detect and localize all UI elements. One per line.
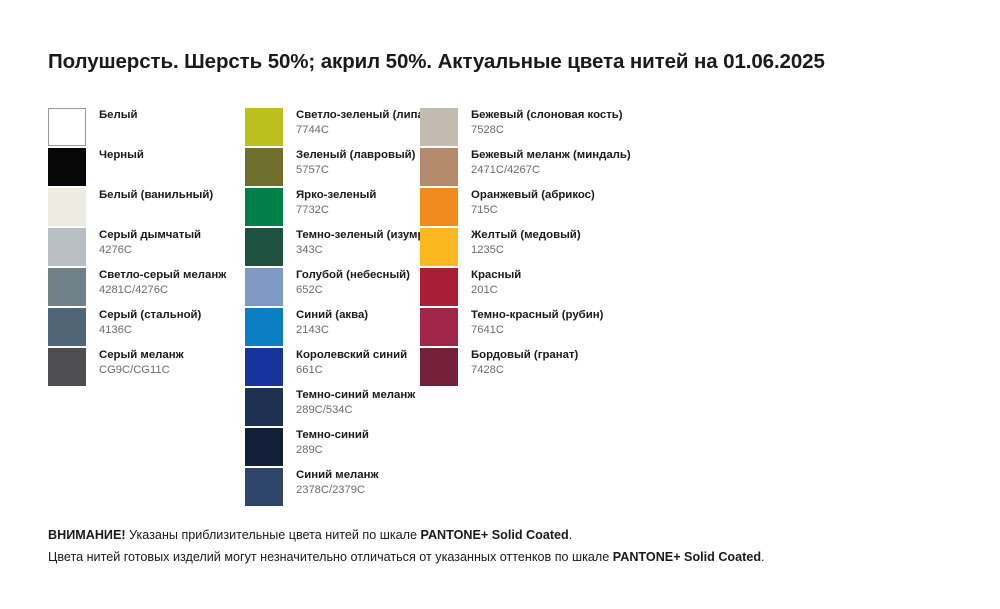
- color-name: Темно-зеленый (изумруд): [296, 229, 420, 242]
- color-chip[interactable]: [245, 428, 283, 466]
- color-chip[interactable]: [48, 348, 86, 386]
- pantone-code: 4281C/4276C: [99, 284, 226, 297]
- pantone-code: CG9C/CG11C: [99, 364, 184, 377]
- color-swatch-row[interactable]: Бежевый (слоновая кость)7528C: [420, 108, 720, 148]
- color-swatch-row[interactable]: Серый дымчатый4276C: [48, 228, 243, 268]
- pantone-code: 2471C/4267C: [471, 164, 631, 177]
- color-chip[interactable]: [420, 228, 458, 266]
- color-chip[interactable]: [245, 268, 283, 306]
- color-chip-text: Белый: [99, 108, 138, 122]
- color-name: Темно-синий меланж: [296, 389, 415, 402]
- color-name: Синий (аква): [296, 309, 368, 322]
- color-chip[interactable]: [420, 108, 458, 146]
- color-name: Серый меланж: [99, 349, 184, 362]
- color-name: Ярко-зеленый: [296, 189, 376, 202]
- color-chip-text: Оранжевый (абрикос)715C: [471, 188, 595, 217]
- color-swatch-row[interactable]: Темно-зеленый (изумруд)343C: [245, 228, 420, 268]
- pantone-code: 7641C: [471, 324, 603, 337]
- color-swatch-row[interactable]: Ярко-зеленый7732C: [245, 188, 420, 228]
- color-chip[interactable]: [420, 148, 458, 186]
- color-chip-text: Темно-синий289C: [296, 428, 369, 457]
- color-swatch-row[interactable]: Серый (стальной)4136C: [48, 308, 243, 348]
- color-name: Голубой (небесный): [296, 269, 410, 282]
- color-swatch-row[interactable]: Синий меланж2378C/2379C: [245, 468, 420, 508]
- color-chip-text: Бежевый меланж (миндаль)2471C/4267C: [471, 148, 631, 177]
- color-chip-text: Желтый (медовый)1235C: [471, 228, 581, 257]
- attention-period: .: [569, 528, 573, 542]
- pantone-code: 1235C: [471, 244, 581, 257]
- pantone-code: 4276C: [99, 244, 201, 257]
- color-chip-text: Темно-зеленый (изумруд)343C: [296, 228, 420, 257]
- pantone-code: 289C/534C: [296, 404, 415, 417]
- color-swatch-row[interactable]: Голубой (небесный)652C: [245, 268, 420, 308]
- color-chip[interactable]: [420, 348, 458, 386]
- color-chip-text: Серый дымчатый4276C: [99, 228, 201, 257]
- color-chip[interactable]: [48, 308, 86, 346]
- color-chip[interactable]: [48, 108, 86, 146]
- color-chip-text: Красный201C: [471, 268, 521, 297]
- color-chip-text: Серый меланжCG9C/CG11C: [99, 348, 184, 377]
- pantone-code: 5757C: [296, 164, 415, 177]
- color-chip-text: Зеленый (лавровый)5757C: [296, 148, 415, 177]
- column-warms: Бежевый (слоновая кость)7528CБежевый мел…: [420, 108, 720, 388]
- pantone-code: 7528C: [471, 124, 623, 137]
- disclaimer-period: .: [761, 550, 765, 564]
- color-swatch-row[interactable]: Черный: [48, 148, 243, 188]
- pantone-code: 7732C: [296, 204, 376, 217]
- color-chip[interactable]: [420, 268, 458, 306]
- color-chip[interactable]: [420, 308, 458, 346]
- color-chip[interactable]: [245, 188, 283, 226]
- color-chip[interactable]: [245, 228, 283, 266]
- color-chip-text: Серый (стальной)4136C: [99, 308, 201, 337]
- color-chip[interactable]: [245, 108, 283, 146]
- color-chip[interactable]: [48, 148, 86, 186]
- pantone-code: 661C: [296, 364, 407, 377]
- pantone-code: 2143C: [296, 324, 368, 337]
- color-name: Темно-красный (рубин): [471, 309, 603, 322]
- color-name: Серый дымчатый: [99, 229, 201, 242]
- color-swatch-row[interactable]: Светло-серый меланж4281C/4276C: [48, 268, 243, 308]
- color-chip-text: Голубой (небесный)652C: [296, 268, 410, 297]
- color-chip-text: Темно-красный (рубин)7641C: [471, 308, 603, 337]
- footer-notes: ВНИМАНИЕ! Указаны приблизительные цвета …: [48, 524, 968, 568]
- color-name: Желтый (медовый): [471, 229, 581, 242]
- color-swatch-row[interactable]: Светло-зеленый (липа)7744C: [245, 108, 420, 148]
- pantone-code: 652C: [296, 284, 410, 297]
- color-chip[interactable]: [245, 388, 283, 426]
- color-chip-text: Ярко-зеленый7732C: [296, 188, 376, 217]
- color-chip[interactable]: [48, 268, 86, 306]
- pantone-brand-1: PANTONE+ Solid Coated: [420, 528, 568, 542]
- color-swatch-row[interactable]: Синий (аква)2143C: [245, 308, 420, 348]
- pantone-code: 289C: [296, 444, 369, 457]
- pantone-code: 343C: [296, 244, 420, 257]
- footer-line-disclaimer: Цвета нитей готовых изделий могут незнач…: [48, 546, 968, 568]
- color-name: Оранжевый (абрикос): [471, 189, 595, 202]
- color-swatch-row[interactable]: Оранжевый (абрикос)715C: [420, 188, 720, 228]
- color-chip[interactable]: [245, 148, 283, 186]
- pantone-code: 715C: [471, 204, 595, 217]
- color-swatch-row[interactable]: Бордовый (гранат)7428C: [420, 348, 720, 388]
- color-swatch-row[interactable]: Серый меланжCG9C/CG11C: [48, 348, 243, 388]
- color-chip-text: Королевский синий661C: [296, 348, 407, 377]
- color-name: Красный: [471, 269, 521, 282]
- color-swatch-row[interactable]: Темно-синий289C: [245, 428, 420, 468]
- color-swatch-row[interactable]: Темно-синий меланж289C/534C: [245, 388, 420, 428]
- color-name: Бордовый (гранат): [471, 349, 578, 362]
- color-name: Зеленый (лавровый): [296, 149, 415, 162]
- color-name: Светло-зеленый (липа): [296, 109, 420, 122]
- pantone-code: 7744C: [296, 124, 420, 137]
- color-name: Серый (стальной): [99, 309, 201, 322]
- color-swatch-row[interactable]: Бежевый меланж (миндаль)2471C/4267C: [420, 148, 720, 188]
- color-chip-text: Синий меланж2378C/2379C: [296, 468, 379, 497]
- color-chip-text: Белый (ванильный): [99, 188, 213, 202]
- color-chip-text: Светло-зеленый (липа)7744C: [296, 108, 420, 137]
- pantone-brand-2: PANTONE+ Solid Coated: [613, 550, 761, 564]
- color-chip-text: Светло-серый меланж4281C/4276C: [99, 268, 226, 297]
- color-chip[interactable]: [245, 348, 283, 386]
- color-name: Королевский синий: [296, 349, 407, 362]
- attention-label: ВНИМАНИЕ!: [48, 528, 126, 542]
- color-chip[interactable]: [48, 228, 86, 266]
- color-chip-text: Синий (аква)2143C: [296, 308, 368, 337]
- color-name: Бежевый меланж (миндаль): [471, 149, 631, 162]
- disclaimer-text: Цвета нитей готовых изделий могут незнач…: [48, 550, 613, 564]
- color-chip-text: Бежевый (слоновая кость)7528C: [471, 108, 623, 137]
- color-chip[interactable]: [245, 468, 283, 506]
- color-swatch-row[interactable]: Зеленый (лавровый)5757C: [245, 148, 420, 188]
- pantone-code: 7428C: [471, 364, 578, 377]
- color-name: Бежевый (слоновая кость): [471, 109, 623, 122]
- footer-line-attention: ВНИМАНИЕ! Указаны приблизительные цвета …: [48, 524, 968, 546]
- color-chip[interactable]: [48, 188, 86, 226]
- color-chip-text: Бордовый (гранат)7428C: [471, 348, 578, 377]
- color-swatch-row[interactable]: Белый: [48, 108, 243, 148]
- color-name: Светло-серый меланж: [99, 269, 226, 282]
- color-name: Синий меланж: [296, 469, 379, 482]
- pantone-code: 2378C/2379C: [296, 484, 379, 497]
- color-name: Белый: [99, 109, 138, 122]
- color-name: Черный: [99, 149, 144, 162]
- pantone-code: 201C: [471, 284, 521, 297]
- pantone-code: 4136C: [99, 324, 201, 337]
- color-name: Темно-синий: [296, 429, 369, 442]
- attention-text: Указаны приблизительные цвета нитей по ш…: [126, 528, 421, 542]
- color-swatch-row[interactable]: Красный201C: [420, 268, 720, 308]
- color-name: Белый (ванильный): [99, 189, 213, 202]
- color-swatch-row[interactable]: Белый (ванильный): [48, 188, 243, 228]
- column-neutrals: БелыйЧерныйБелый (ванильный)Серый дымчат…: [48, 108, 243, 388]
- color-swatch-row[interactable]: Желтый (медовый)1235C: [420, 228, 720, 268]
- color-swatch-row[interactable]: Темно-красный (рубин)7641C: [420, 308, 720, 348]
- column-greens-blues: Светло-зеленый (липа)7744CЗеленый (лавро…: [245, 108, 420, 508]
- color-chip-text: Черный: [99, 148, 144, 162]
- color-chip-text: Темно-синий меланж289C/534C: [296, 388, 415, 417]
- color-chip[interactable]: [420, 188, 458, 226]
- color-swatch-row[interactable]: Королевский синий661C: [245, 348, 420, 388]
- color-chip[interactable]: [245, 308, 283, 346]
- color-palette: БелыйЧерныйБелый (ванильный)Серый дымчат…: [0, 0, 1000, 609]
